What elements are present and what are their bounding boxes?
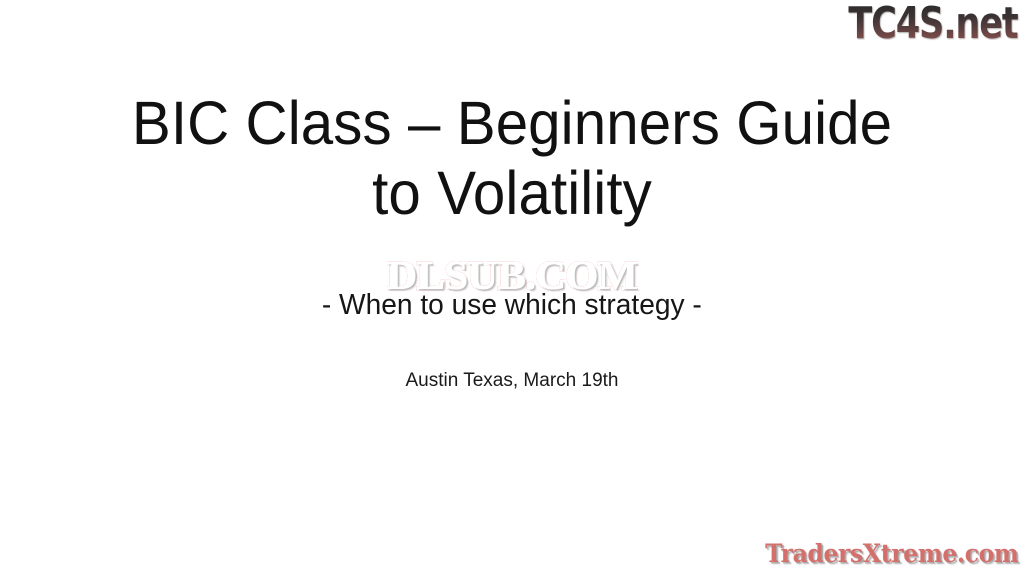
page-title-line-2: to Volatility [23, 158, 1001, 228]
page-subtitle: - When to use which strategy - [322, 288, 702, 322]
subtitle-row: - When to use which strategy - [0, 288, 1024, 322]
event-date-row: Austin Texas, March 19th [0, 369, 1024, 393]
presentation-slide: TC4S.net BIC Class – Beginners Guide to … [0, 0, 1024, 576]
page-title: BIC Class – Beginners Guide to Volatilit… [0, 88, 1024, 228]
event-date-location: Austin Texas, March 19th [406, 369, 619, 393]
page-title-line-1: BIC Class – Beginners Guide [23, 88, 1001, 158]
brand-logo-tc4s: TC4S.net [849, 0, 1018, 48]
partner-logo-tradersxtreme: TradersXtreme.com [765, 540, 1018, 568]
